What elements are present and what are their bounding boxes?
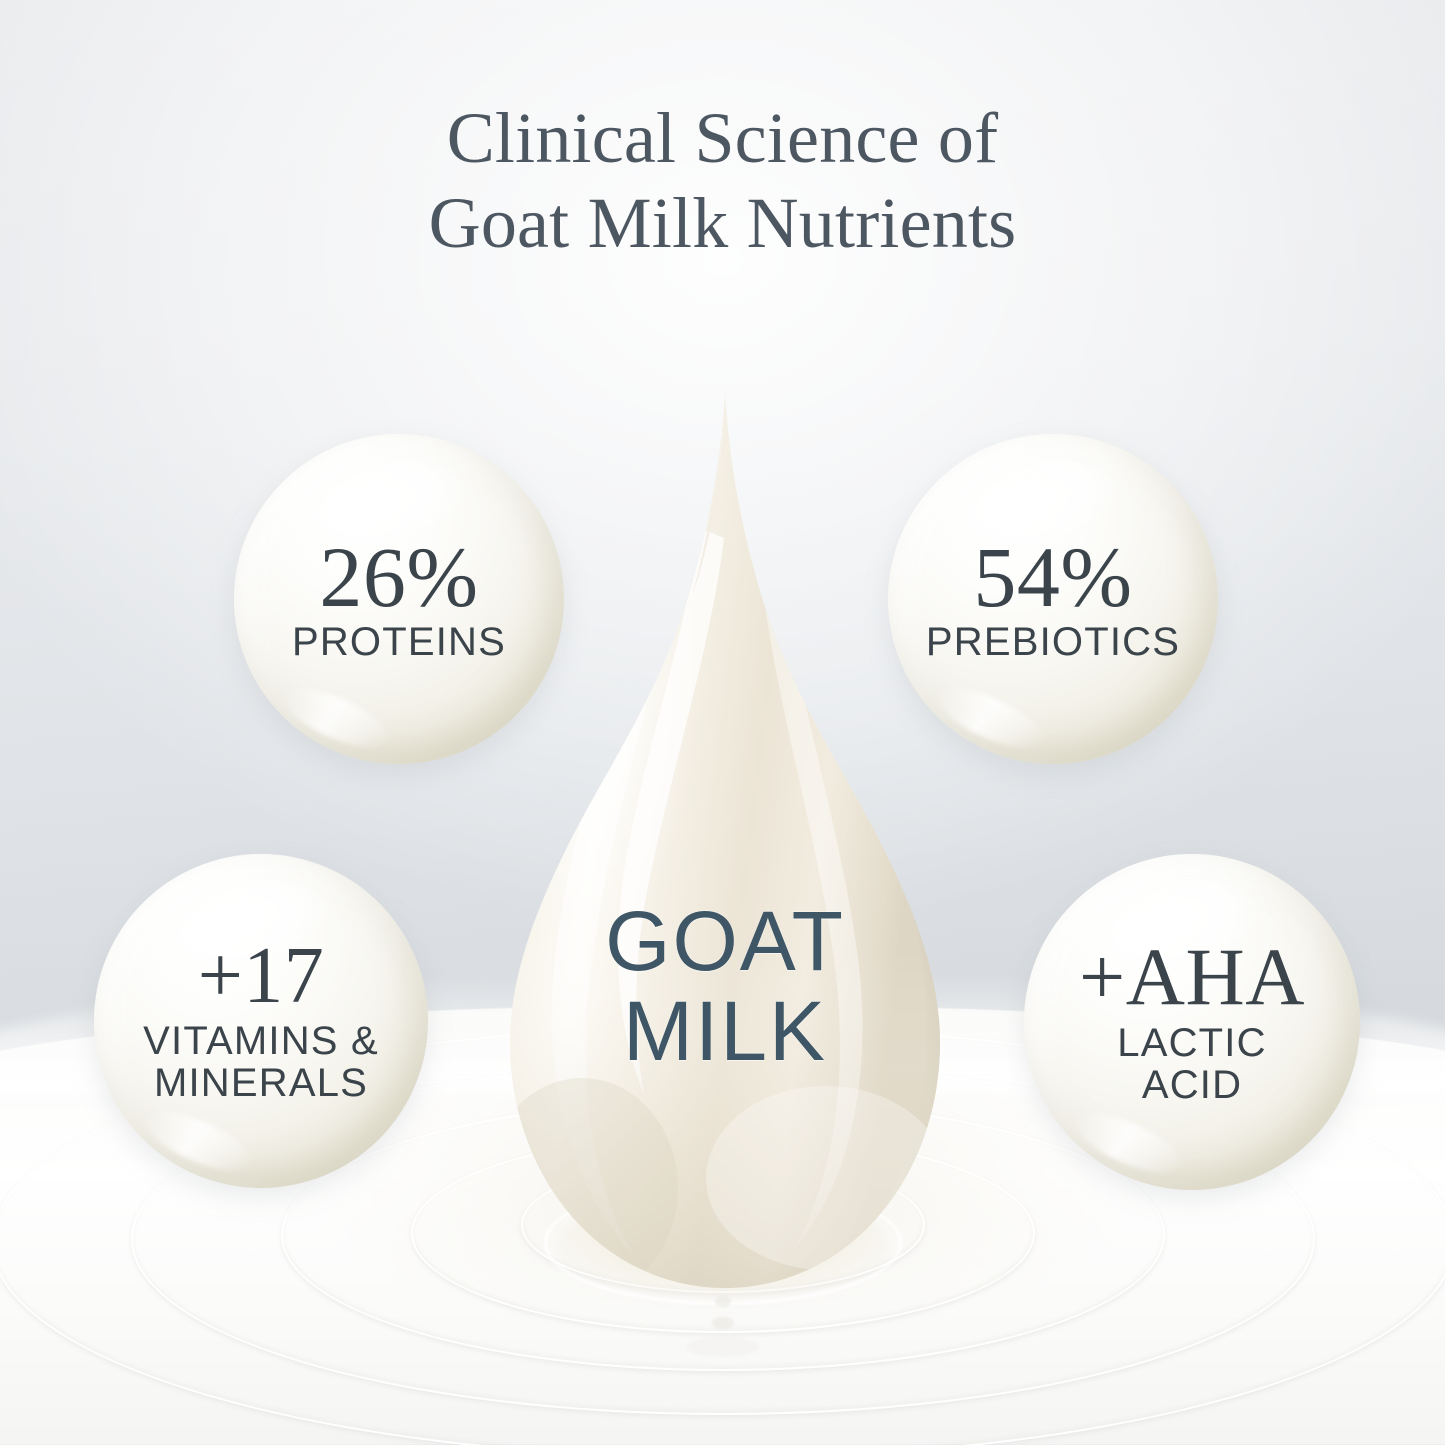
bubble-label-aha-line2: ACID [1142,1064,1242,1106]
page-title: Clinical Science of Goat Milk Nutrients [0,96,1445,266]
droplet-wordmark: GOAT MILK [486,900,964,1073]
nutrient-bubble-prebiotics[interactable]: 54% PREBIOTICS [888,434,1218,764]
goat-milk-infographic: Clinical Science of Goat Milk Nutrients [0,0,1445,1445]
bubble-label-prebiotics: PREBIOTICS [926,621,1180,663]
milk-micro-drop-2 [712,1317,734,1329]
bubble-value-prebiotics: 54% [973,535,1132,619]
headline-line-1: Clinical Science of [0,96,1445,181]
bubble-value-proteins: 26% [319,535,478,619]
bubble-label-proteins: PROTEINS [292,621,506,663]
milk-micro-drop-3 [686,1337,760,1357]
bubble-value-aha: +AHA [1079,937,1305,1017]
nutrient-bubble-aha[interactable]: +AHA LACTIC ACID [1024,854,1360,1190]
nutrient-bubble-vitamins[interactable]: +17 VITAMINS & MINERALS [94,854,428,1188]
nutrient-bubble-proteins[interactable]: 26% PROTEINS [234,434,564,764]
milk-droplet [486,388,964,1293]
bubble-value-vitamins: +17 [198,937,325,1015]
wordmark-line-goat: GOAT [486,900,964,982]
bubble-label-aha-line1: LACTIC [1117,1022,1266,1064]
bubble-label-vitamins-line1: VITAMINS & [143,1020,379,1062]
milk-micro-drop-1 [715,1296,731,1307]
wordmark-line-milk: MILK [486,990,964,1072]
headline-line-2: Goat Milk Nutrients [0,181,1445,266]
bubble-label-vitamins-line2: MINERALS [154,1062,368,1104]
